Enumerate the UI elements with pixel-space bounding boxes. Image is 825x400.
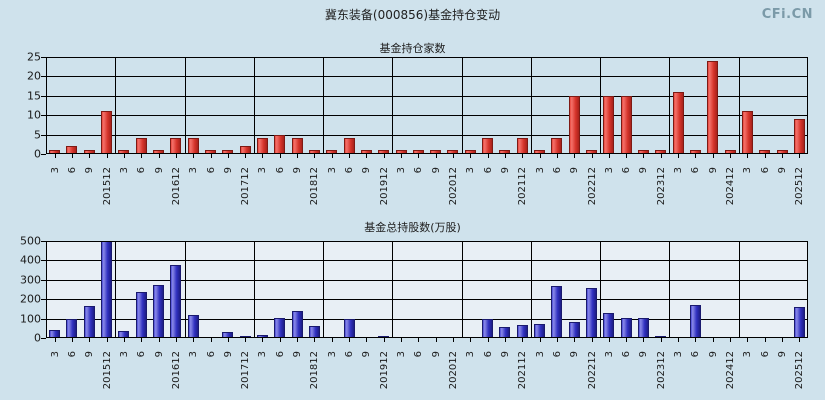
xtick-mark — [782, 154, 783, 158]
xtick-mark — [228, 338, 229, 342]
bottom-xtick-label: 9 — [431, 351, 442, 357]
bottom-xtick-label: 3 — [535, 351, 546, 357]
xtick-mark — [609, 154, 610, 158]
xtick-mark — [418, 154, 419, 158]
xtick-mark — [55, 154, 56, 158]
top-xtick-label: 3 — [604, 167, 615, 173]
top-xtick-label: 9 — [84, 167, 95, 173]
xtick-mark — [314, 338, 315, 342]
top-ytick-label: 5 — [34, 129, 41, 142]
bottom-xtick-label: 202512 — [794, 351, 805, 389]
top-xtick-label: 202312 — [656, 167, 667, 205]
top-xtick-label: 6 — [760, 167, 771, 173]
bottom-xtick-label: 3 — [673, 351, 684, 357]
xtick-mark — [366, 338, 367, 342]
bottom-xtick-label: 9 — [569, 351, 580, 357]
xtick-mark — [730, 154, 731, 158]
top-ytick-label: 20 — [27, 70, 41, 83]
bottom-xtick-label: 3 — [188, 351, 199, 357]
xtick-mark — [799, 154, 800, 158]
bottom-xtick-label: 9 — [292, 351, 303, 357]
xtick-mark — [505, 338, 506, 342]
bottom-axis-frame — [46, 241, 808, 338]
xtick-mark — [107, 338, 108, 342]
top-xtick-label: 3 — [327, 167, 338, 173]
xtick-mark — [643, 338, 644, 342]
xtick-mark — [124, 338, 125, 342]
xtick-mark — [89, 154, 90, 158]
xtick-mark — [747, 154, 748, 158]
top-xtick-label: 6 — [344, 167, 355, 173]
xtick-mark — [176, 338, 177, 342]
xtick-mark — [124, 154, 125, 158]
xtick-mark — [89, 338, 90, 342]
top-xtick-label: 9 — [431, 167, 442, 173]
xtick-mark — [470, 338, 471, 342]
top-xtick-label: 201812 — [309, 167, 320, 205]
bottom-ytick-label: 300 — [20, 274, 41, 287]
top-xtick-label: 9 — [500, 167, 511, 173]
bottom-chart-subtitle: 基金总持股数(万股) — [0, 219, 825, 235]
xtick-mark — [695, 154, 696, 158]
xtick-mark — [141, 338, 142, 342]
bottom-ytick-label: 400 — [20, 254, 41, 267]
xtick-mark — [193, 154, 194, 158]
xtick-mark — [453, 338, 454, 342]
top-xtick-label: 3 — [535, 167, 546, 173]
top-xtick-label: 9 — [708, 167, 719, 173]
fund-total-shares-chart: 0100200300400500369201512369201612369201… — [46, 241, 808, 338]
bottom-xtick-label: 3 — [742, 351, 753, 357]
bottom-xtick-label: 3 — [604, 351, 615, 357]
bottom-xtick-label: 3 — [396, 351, 407, 357]
bottom-xtick-label: 6 — [344, 351, 355, 357]
top-xtick-label: 9 — [777, 167, 788, 173]
xtick-mark — [314, 154, 315, 158]
xtick-mark — [782, 338, 783, 342]
top-xtick-label: 6 — [413, 167, 424, 173]
bottom-xtick-label: 201612 — [171, 351, 182, 389]
bottom-xtick-label: 6 — [552, 351, 563, 357]
chart-page: 冀东装备(000856)基金持仓变动 CFi.CN 基金持仓家数 基金总持股数(… — [0, 0, 825, 400]
xtick-mark — [436, 338, 437, 342]
bottom-xtick-label: 6 — [67, 351, 78, 357]
top-xtick-label: 6 — [621, 167, 632, 173]
bottom-ytick-label: 100 — [20, 313, 41, 326]
xtick-mark — [730, 338, 731, 342]
top-ytick-label: 25 — [27, 51, 41, 64]
xtick-mark — [574, 154, 575, 158]
bottom-xtick-label: 9 — [154, 351, 165, 357]
bottom-xtick-label: 202112 — [517, 351, 528, 389]
xtick-mark — [418, 338, 419, 342]
xtick-mark — [488, 154, 489, 158]
xtick-mark — [280, 338, 281, 342]
bottom-xtick-label: 6 — [206, 351, 217, 357]
top-xtick-label: 201912 — [379, 167, 390, 205]
xtick-mark — [349, 338, 350, 342]
top-xtick-label: 6 — [206, 167, 217, 173]
top-xtick-label: 3 — [742, 167, 753, 173]
xtick-mark — [401, 338, 402, 342]
top-xtick-label: 6 — [552, 167, 563, 173]
xtick-mark — [540, 154, 541, 158]
top-xtick-label: 6 — [483, 167, 494, 173]
bottom-xtick-label: 201512 — [102, 351, 113, 389]
top-xtick-label: 3 — [257, 167, 268, 173]
xtick-mark — [193, 338, 194, 342]
xtick-mark — [297, 154, 298, 158]
top-xtick-label: 3 — [188, 167, 199, 173]
xtick-mark — [470, 154, 471, 158]
bottom-xtick-label: 9 — [84, 351, 95, 357]
xtick-mark — [626, 154, 627, 158]
top-xtick-label: 9 — [223, 167, 234, 173]
top-xtick-label: 3 — [673, 167, 684, 173]
xtick-mark — [176, 154, 177, 158]
top-xtick-label: 9 — [154, 167, 165, 173]
top-xtick-label: 6 — [136, 167, 147, 173]
xtick-mark — [332, 338, 333, 342]
xtick-mark — [765, 338, 766, 342]
xtick-mark — [262, 338, 263, 342]
xtick-mark — [661, 338, 662, 342]
bottom-ytick-label: 500 — [20, 235, 41, 248]
xtick-mark — [713, 154, 714, 158]
top-xtick-label: 201712 — [240, 167, 251, 205]
top-ytick-label: 15 — [27, 90, 41, 103]
bottom-xtick-label: 6 — [690, 351, 701, 357]
bottom-xtick-label: 6 — [136, 351, 147, 357]
page-title: 冀东装备(000856)基金持仓变动 — [0, 6, 825, 23]
bottom-xtick-label: 3 — [257, 351, 268, 357]
bottom-xtick-label: 9 — [777, 351, 788, 357]
top-xtick-label: 6 — [67, 167, 78, 173]
bottom-xtick-label: 9 — [638, 351, 649, 357]
xtick-mark — [55, 338, 56, 342]
xtick-mark — [211, 154, 212, 158]
xtick-mark — [366, 154, 367, 158]
xtick-mark — [349, 154, 350, 158]
xtick-mark — [297, 338, 298, 342]
bottom-xtick-label: 201812 — [309, 351, 320, 389]
xtick-mark — [557, 338, 558, 342]
xtick-mark — [540, 338, 541, 342]
bottom-xtick-label: 9 — [708, 351, 719, 357]
xtick-mark — [522, 154, 523, 158]
bottom-xtick-label: 202312 — [656, 351, 667, 389]
xtick-mark — [505, 154, 506, 158]
xtick-mark — [713, 338, 714, 342]
xtick-mark — [384, 154, 385, 158]
xtick-mark — [141, 154, 142, 158]
xtick-mark — [695, 338, 696, 342]
bottom-xtick-label: 202212 — [587, 351, 598, 389]
xtick-mark — [107, 154, 108, 158]
xtick-mark — [159, 154, 160, 158]
top-chart-subtitle: 基金持仓家数 — [0, 40, 825, 56]
xtick-mark — [245, 338, 246, 342]
ytick-mark — [41, 338, 46, 339]
xtick-mark — [211, 338, 212, 342]
xtick-mark — [799, 338, 800, 342]
bottom-xtick-label: 202412 — [725, 351, 736, 389]
xtick-mark — [747, 338, 748, 342]
xtick-mark — [72, 154, 73, 158]
xtick-mark — [488, 338, 489, 342]
xtick-mark — [765, 154, 766, 158]
bottom-xtick-label: 201912 — [379, 351, 390, 389]
top-xtick-label: 6 — [275, 167, 286, 173]
bottom-xtick-label: 202012 — [448, 351, 459, 389]
xtick-mark — [574, 338, 575, 342]
xtick-mark — [159, 338, 160, 342]
top-ytick-label: 0 — [34, 148, 41, 161]
top-xtick-label: 202112 — [517, 167, 528, 205]
top-xtick-label: 202012 — [448, 167, 459, 205]
top-xtick-label: 202512 — [794, 167, 805, 205]
xtick-mark — [384, 338, 385, 342]
top-xtick-label: 3 — [50, 167, 61, 173]
xtick-mark — [522, 338, 523, 342]
xtick-mark — [245, 154, 246, 158]
top-xtick-label: 9 — [361, 167, 372, 173]
xtick-mark — [332, 154, 333, 158]
xtick-mark — [280, 154, 281, 158]
top-xtick-label: 201612 — [171, 167, 182, 205]
bottom-xtick-label: 6 — [483, 351, 494, 357]
top-ytick-label: 10 — [27, 109, 41, 122]
bottom-xtick-label: 3 — [50, 351, 61, 357]
bottom-ytick-label: 0 — [34, 332, 41, 345]
bottom-xtick-label: 3 — [119, 351, 130, 357]
top-xtick-label: 3 — [119, 167, 130, 173]
bottom-ytick-label: 200 — [20, 293, 41, 306]
xtick-mark — [678, 154, 679, 158]
xtick-mark — [678, 338, 679, 342]
watermark-label: CFi.CN — [762, 7, 813, 22]
xtick-mark — [72, 338, 73, 342]
top-xtick-label: 3 — [396, 167, 407, 173]
xtick-mark — [643, 154, 644, 158]
xtick-mark — [661, 154, 662, 158]
bottom-xtick-label: 6 — [275, 351, 286, 357]
xtick-mark — [626, 338, 627, 342]
bottom-xtick-label: 6 — [621, 351, 632, 357]
top-xtick-label: 6 — [690, 167, 701, 173]
bottom-xtick-label: 9 — [223, 351, 234, 357]
xtick-mark — [609, 338, 610, 342]
bottom-xtick-label: 6 — [760, 351, 771, 357]
bottom-xtick-label: 9 — [500, 351, 511, 357]
xtick-mark — [436, 154, 437, 158]
xtick-mark — [592, 338, 593, 342]
bottom-xtick-label: 6 — [413, 351, 424, 357]
bottom-xtick-label: 9 — [361, 351, 372, 357]
top-xtick-label: 9 — [292, 167, 303, 173]
top-axis-frame — [46, 57, 808, 154]
top-xtick-label: 202212 — [587, 167, 598, 205]
top-xtick-label: 9 — [638, 167, 649, 173]
xtick-mark — [228, 154, 229, 158]
xtick-mark — [557, 154, 558, 158]
xtick-mark — [453, 154, 454, 158]
fund-holder-count-chart: 0510152025369201512369201612369201712369… — [46, 57, 808, 154]
bottom-xtick-label: 201712 — [240, 351, 251, 389]
bottom-xtick-label: 3 — [327, 351, 338, 357]
xtick-mark — [262, 154, 263, 158]
top-xtick-label: 202412 — [725, 167, 736, 205]
bottom-xtick-label: 3 — [465, 351, 476, 357]
xtick-mark — [401, 154, 402, 158]
top-xtick-label: 9 — [569, 167, 580, 173]
top-xtick-label: 201512 — [102, 167, 113, 205]
ytick-mark — [41, 154, 46, 155]
top-xtick-label: 3 — [465, 167, 476, 173]
xtick-mark — [592, 154, 593, 158]
